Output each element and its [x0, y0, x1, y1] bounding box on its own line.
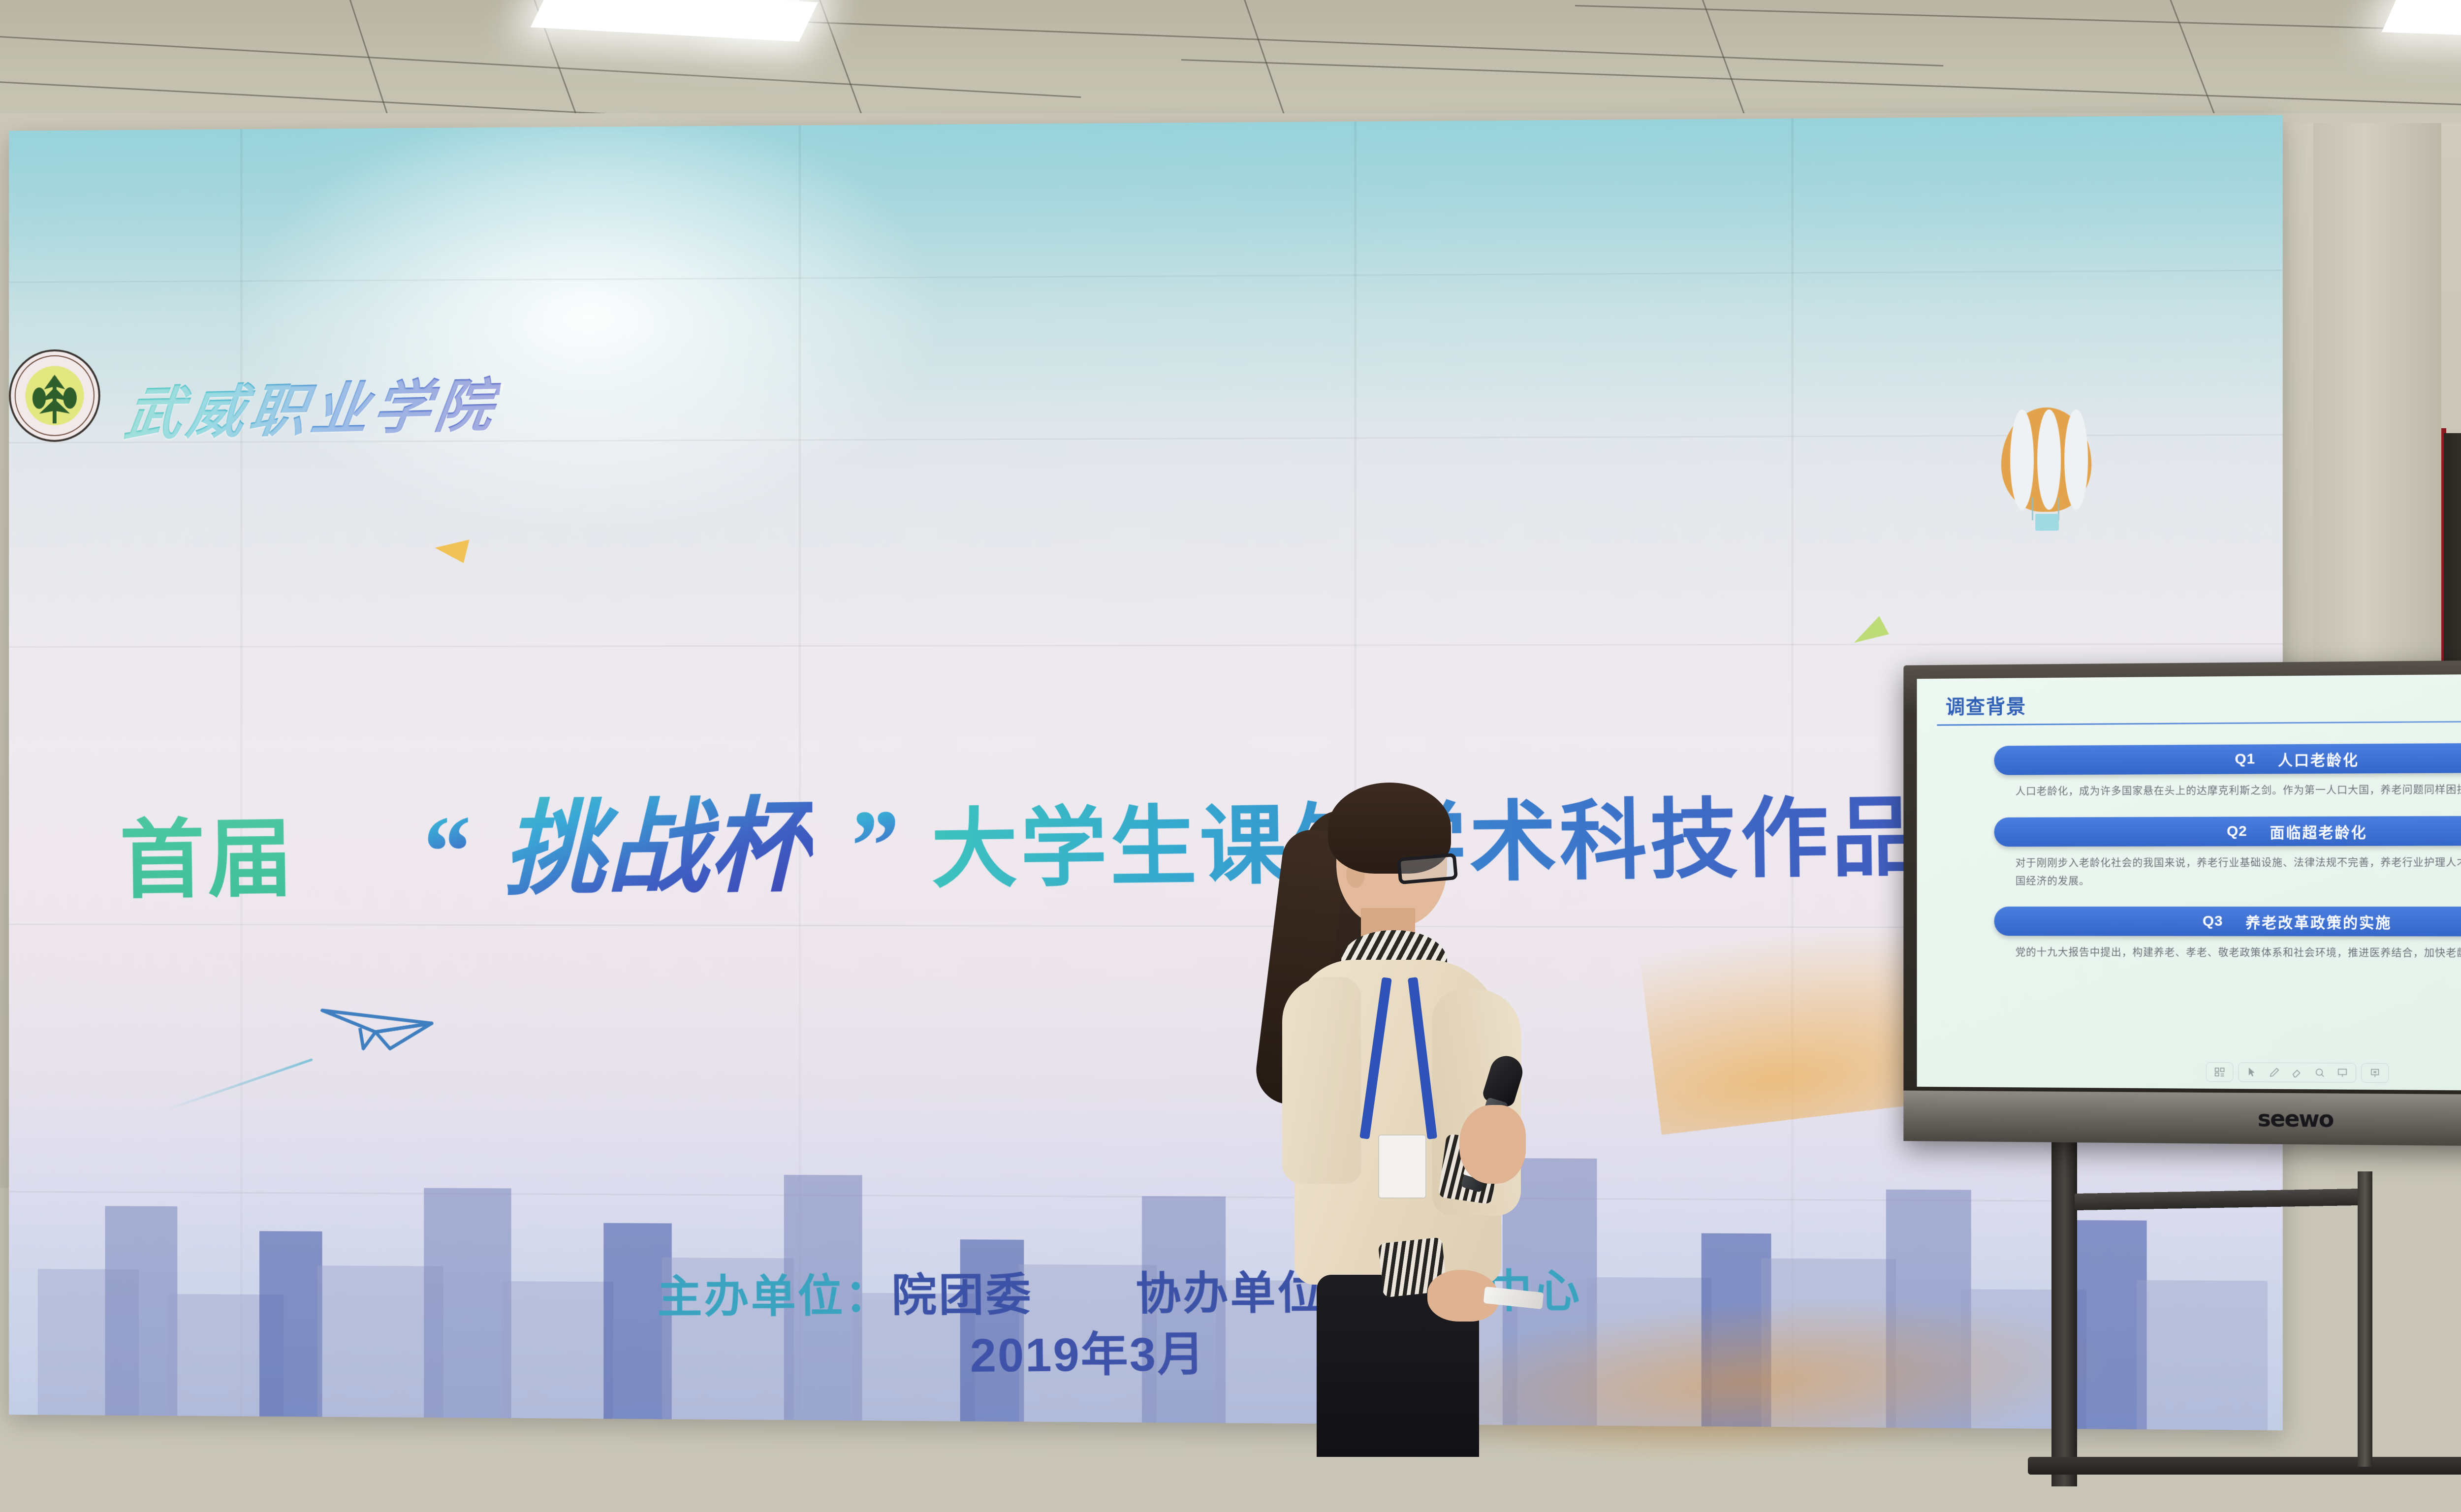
slide-block-q1-bar: Q1 人口老龄化: [1994, 742, 2461, 775]
headline-quote-close: ”: [845, 787, 899, 906]
headline-prefix: 首届: [119, 788, 296, 915]
q1-body: 人口老龄化，成为许多国家悬在头上的达摩克利斯之剑。作为第一人口大国，养老问题同样…: [2016, 780, 2461, 800]
banner-date: 2019年3月: [970, 1316, 1206, 1386]
tv-stand-support-leg: [2358, 1171, 2372, 1467]
banner-headline: 首届 “ 挑战杯 ” 大学生课外学术科技作品竞赛: [119, 744, 2106, 920]
presenter: [1235, 783, 1541, 1452]
school-logo: [9, 349, 100, 442]
display-brand-label: seewo: [2258, 1105, 2334, 1132]
organizer-label: 主办单位：: [657, 1271, 892, 1323]
toolbar-group-tools[interactable]: [2238, 1062, 2356, 1082]
q3-number: Q3: [2203, 913, 2223, 930]
q2-number: Q2: [2227, 823, 2247, 840]
foreground-table-left: [0, 1459, 1536, 1512]
school-name-calligraphy: 武威职业学院: [121, 358, 505, 451]
organizer-value: 院团委: [891, 1270, 1033, 1321]
eraser-icon[interactable]: [2291, 1066, 2303, 1079]
toolbar-group-menu[interactable]: [2206, 1062, 2233, 1082]
screen-icon[interactable]: [2336, 1066, 2349, 1079]
side-table-leg-left: [2412, 1166, 2425, 1432]
q3-heading: 养老改革政策的实施: [2245, 911, 2392, 932]
q1-number: Q1: [2235, 751, 2255, 767]
display-bezel: seewo: [1903, 1091, 2461, 1148]
headline-quote-open: “: [418, 793, 472, 912]
scene-root: 武威职业学院 首届 “ 挑战杯 ” 大学生课外学术科技作品竞赛 主办单位：院团委…: [0, 0, 2461, 1512]
magnifier-icon[interactable]: [2313, 1066, 2326, 1079]
seewo-display[interactable]: 调查背景 Q1 人口老龄化 人口老龄化，成为许多国家悬在头上的达摩克利斯之剑。作…: [1903, 659, 2461, 1148]
paper-airplane-trail: [161, 1058, 313, 1112]
banner-light-glare: [225, 95, 955, 539]
q2-heading: 面临超老龄化: [2270, 820, 2367, 842]
glasses-icon: [1397, 853, 1458, 884]
presenter-left-arm: [1282, 977, 1361, 1184]
ceiling-light-panel-2: [731, 0, 800, 20]
paper-airplane-icon: [317, 1000, 443, 1054]
slide-title: 调查背景: [1946, 686, 2461, 719]
green-triangle-decor: [1849, 615, 1889, 643]
pointer-icon[interactable]: [2245, 1066, 2258, 1078]
toolbar-group-end[interactable]: [2361, 1063, 2389, 1083]
pen-icon[interactable]: [2268, 1066, 2281, 1079]
presentation-toolbar[interactable]: [2206, 1062, 2389, 1083]
display-screen[interactable]: 调查背景 Q1 人口老龄化 人口老龄化，成为许多国家悬在头上的达摩克利斯之剑。作…: [1917, 673, 2461, 1092]
presenter-right-hand: [1459, 1105, 1526, 1184]
judge-paper-text: ▤▤▤ ▤▤ ▤▤▤▤ ▤▤ ▤▤▤▤▤▤▤▤ ▤▤▤▤▤ ▤▤ ▤▤▤: [1624, 1477, 1787, 1497]
hot-air-balloon-icon: [2001, 407, 2091, 512]
q1-heading: 人口老龄化: [2278, 748, 2359, 770]
slide-title-divider: [1937, 720, 2461, 725]
slide-block-q3-bar: Q3 养老改革政策的实施: [1994, 907, 2461, 937]
end-show-icon[interactable]: [2368, 1067, 2381, 1079]
q2-body: 对于刚刚步入老龄化社会的我国来说，养老行业基础设施、法律法规不完善，养老行业护理…: [2016, 853, 2461, 890]
headline-emphasis: 挑战杯: [502, 762, 814, 915]
q3-body: 党的十九大报告中提出，构建养老、孝老、敬老政策体系和社会环境，推进医养结合，加快…: [2016, 944, 2461, 963]
slide-menu-icon[interactable]: [2213, 1066, 2226, 1078]
name-badge: [1378, 1134, 1426, 1198]
slide-block-q2-bar: Q2 面临超老龄化: [1994, 816, 2461, 847]
powerpoint-slide: 调查背景 Q1 人口老龄化 人口老龄化，成为许多国家悬在头上的达摩克利斯之剑。作…: [1917, 673, 2461, 1092]
